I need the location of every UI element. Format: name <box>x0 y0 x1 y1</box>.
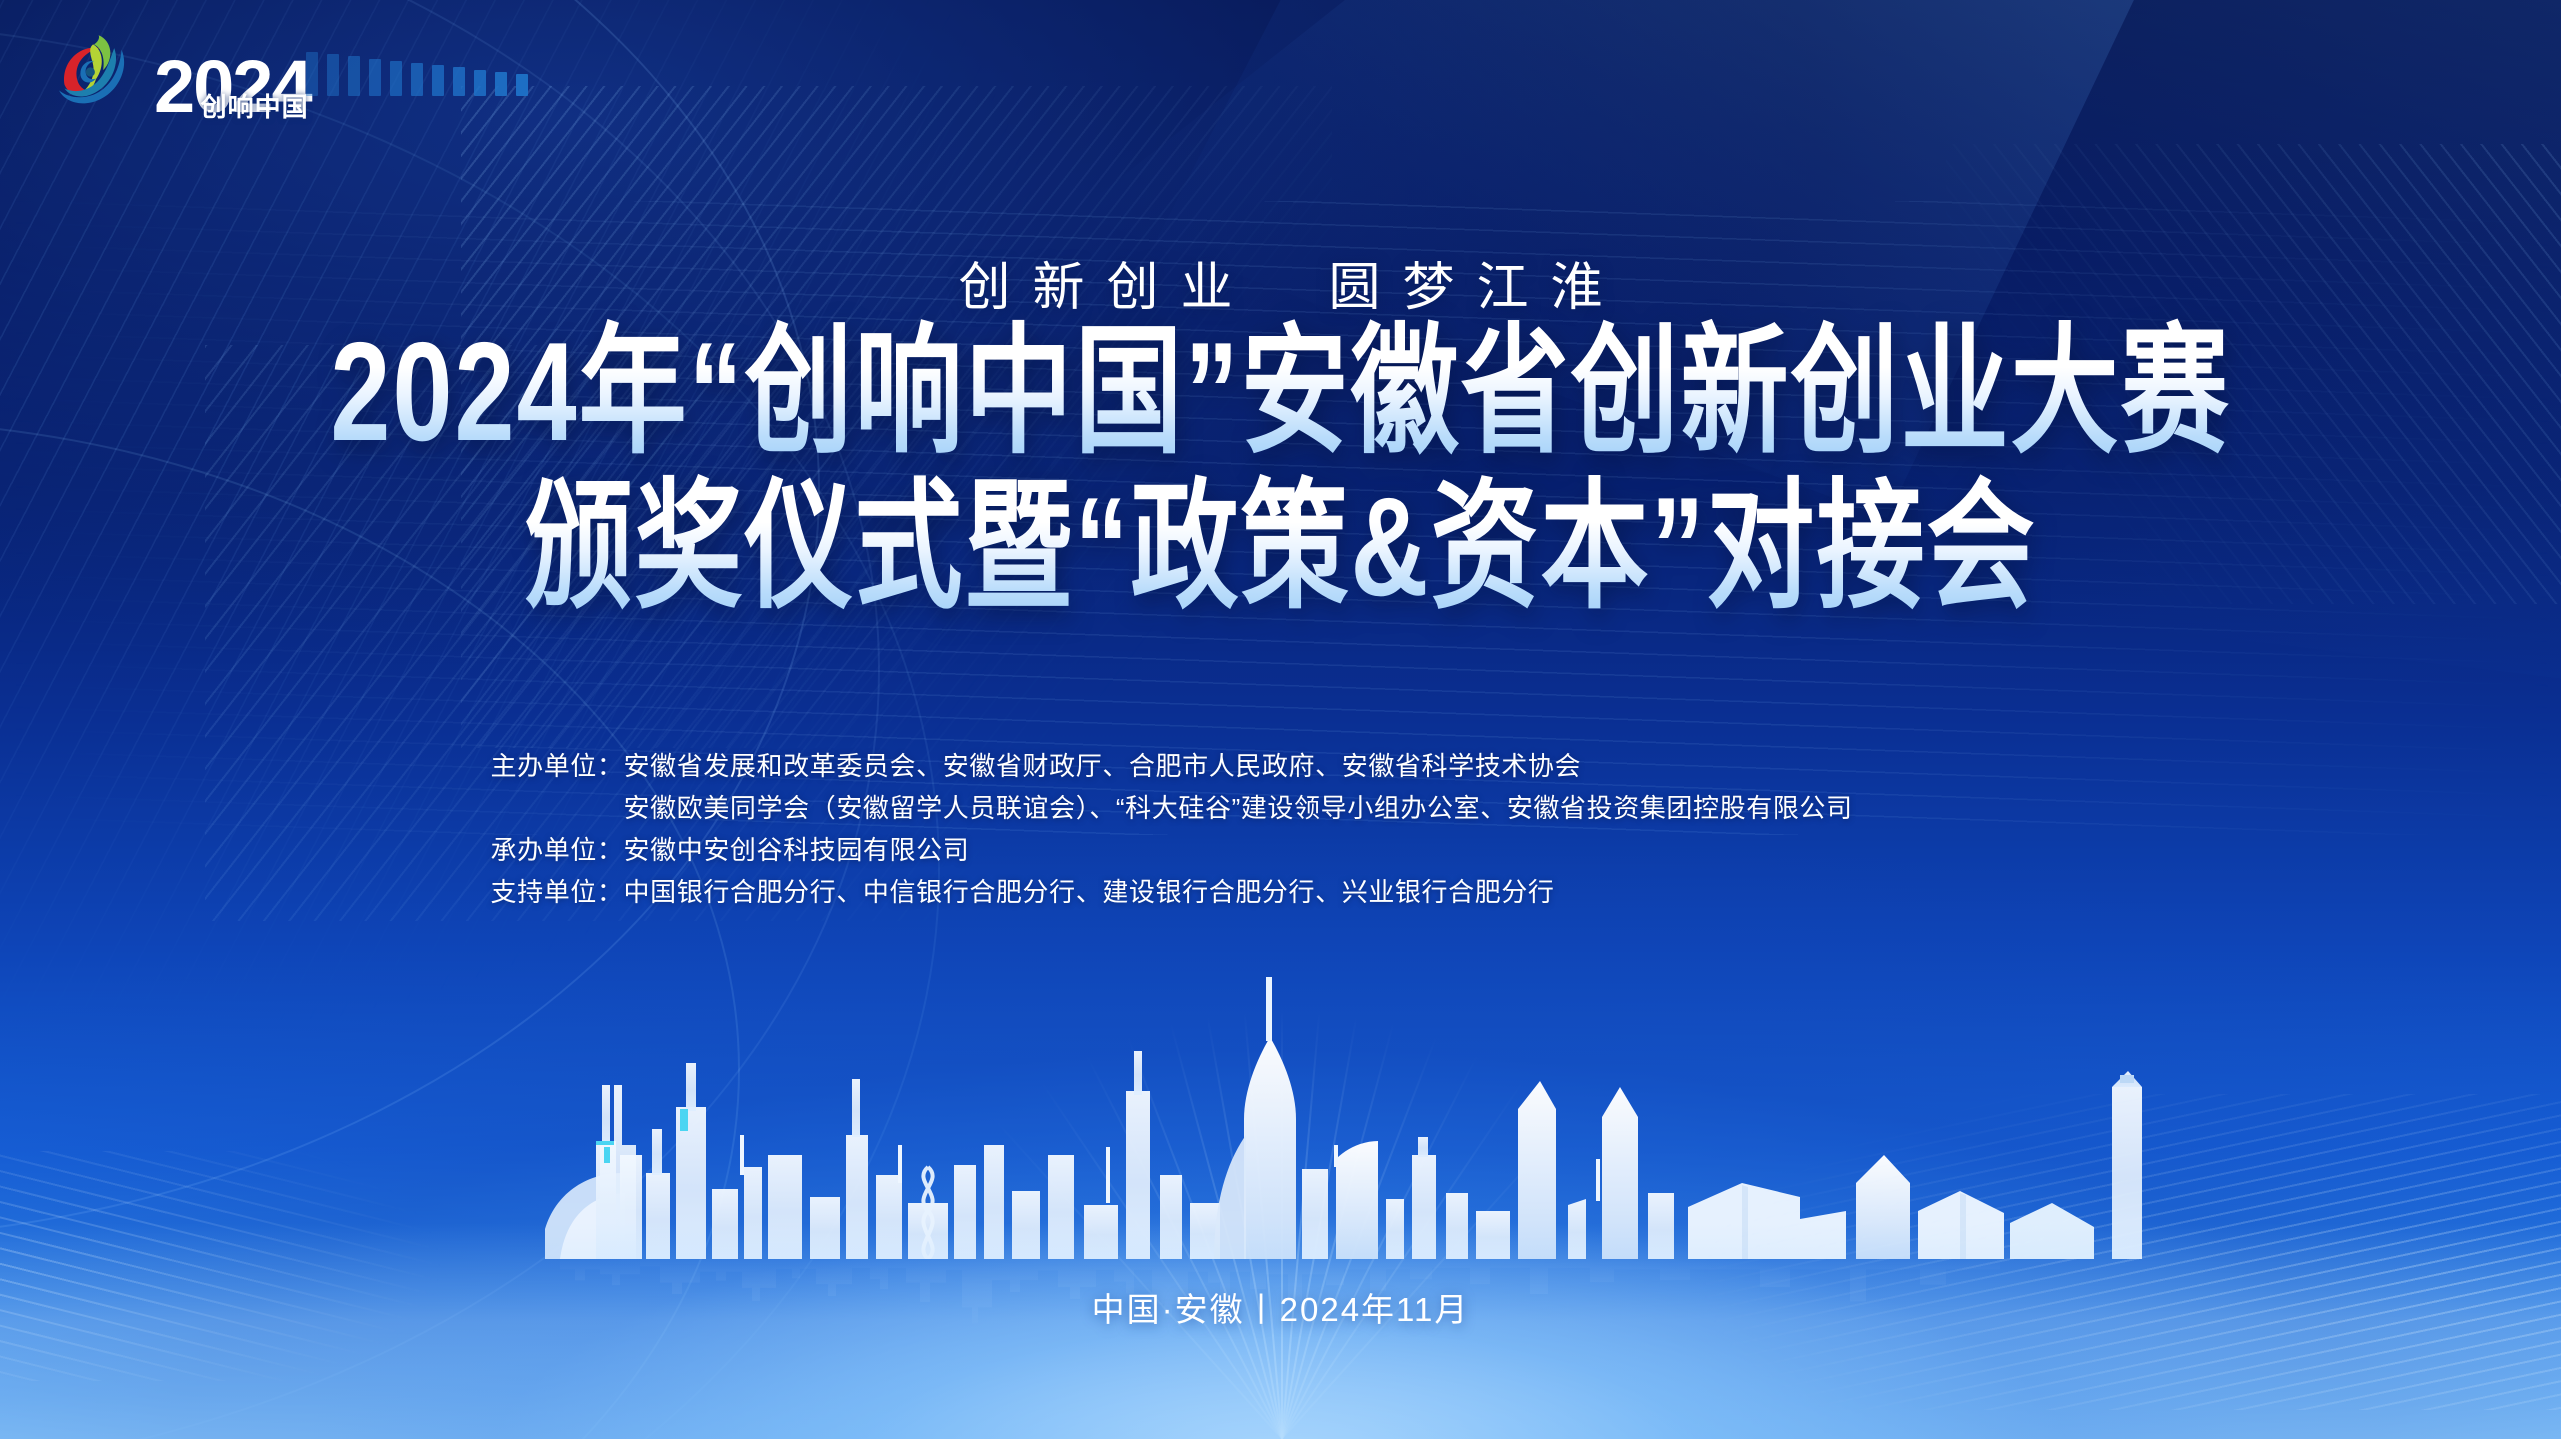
poster-subtitle: 创新创业 圆梦江淮 <box>0 245 2561 320</box>
organizer-row: 支持单位：中国银行合肥分行、中信银行合肥分行、建设银行合肥分行、兴业银行合肥分行 <box>491 871 2071 913</box>
event-logo: 2024 创响中国 <box>48 26 311 118</box>
logo-dash <box>348 56 360 96</box>
logo-dash <box>306 52 318 96</box>
organizer-label: 支持单位： <box>491 871 624 913</box>
logo-dash-accents <box>306 52 528 96</box>
logo-brand-cn: 创响中国 <box>201 87 309 124</box>
logo-dash <box>432 65 444 96</box>
logo-dash <box>390 61 402 96</box>
organizer-row: 承办单位：安徽中安创谷科技园有限公司 <box>491 829 2071 871</box>
title-line-1: 2024年“创响中国”安徽省创新创业大赛 <box>0 314 2561 471</box>
organizer-value: 安徽中安创谷科技园有限公司 <box>624 829 2071 871</box>
logo-dash <box>474 70 486 96</box>
logo-dash <box>453 67 465 96</box>
logo-dash <box>327 54 339 96</box>
event-location-date: 中国·安徽丨2024年11月 <box>0 1283 2561 1331</box>
logo-wordmark: 2024 创响中国 <box>154 57 311 118</box>
organizer-value: 中国银行合肥分行、中信银行合肥分行、建设银行合肥分行、兴业银行合肥分行 <box>624 871 2071 913</box>
logo-dash <box>411 63 423 96</box>
page-title: 2024年“创响中国”安徽省创新创业大赛 颁奖仪式暨“政策&资本”对接会 <box>0 332 2561 608</box>
decor-light-swoosh-right <box>1281 1094 2561 1411</box>
organizer-label: 承办单位： <box>491 829 624 871</box>
chuangxiang-zhongguo-swirl-logo-icon <box>48 26 140 118</box>
organizer-value: 安徽欧美同学会（安徽留学人员联谊会）、“科大硅谷”建设领导小组办公室、安徽省投资… <box>624 787 2071 829</box>
organizer-label: 主办单位： <box>491 745 624 787</box>
organizer-row: 主办单位：安徽欧美同学会（安徽留学人员联谊会）、“科大硅谷”建设领导小组办公室、… <box>491 787 2071 829</box>
title-line-2: 颁奖仪式暨“政策&资本”对接会 <box>0 469 2561 626</box>
logo-dash <box>369 59 381 96</box>
decor-light-swoosh-left <box>0 1151 615 1381</box>
logo-dash <box>495 72 507 96</box>
organizer-value: 安徽省发展和改革委员会、安徽省财政厅、合肥市人民政府、安徽省科学技术协会 <box>624 745 2071 787</box>
organizer-row: 主办单位：安徽省发展和改革委员会、安徽省财政厅、合肥市人民政府、安徽省科学技术协… <box>491 745 2071 787</box>
logo-dash <box>516 74 528 96</box>
organizer-block: 主办单位：安徽省发展和改革委员会、安徽省财政厅、合肥市人民政府、安徽省科学技术协… <box>0 745 2561 913</box>
poster-canvas: 2024 创响中国 创新创业 圆梦江淮 2024年“创响中国”安徽省创新创业大赛… <box>0 0 2561 1439</box>
